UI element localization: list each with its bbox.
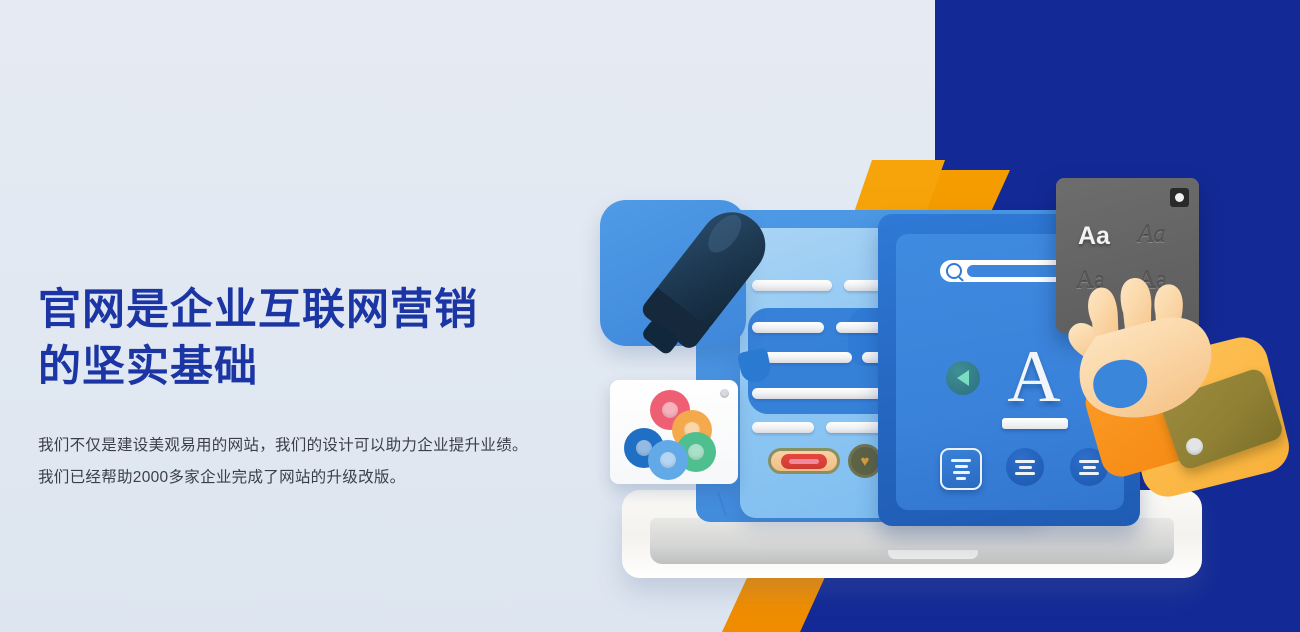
hero-copy: 官网是企业互联网营销 的坚实基础 我们不仅是建设美观易用的网站，我们的设计可以助… (38, 282, 558, 494)
palette-swatch-lightblue[interactable] (648, 440, 688, 480)
palette-screw (720, 389, 729, 398)
laptop-notch (888, 550, 978, 559)
hero-subcopy: 我们不仅是建设美观易用的网站，我们的设计可以助力企业提升业绩。 我们已经帮助20… (38, 430, 558, 494)
color-palette-card (610, 380, 738, 484)
font-swatch-bold[interactable]: Aa (1078, 224, 1110, 249)
toggle-switch[interactable] (768, 448, 840, 474)
prev-font-button[interactable] (946, 361, 980, 395)
search-icon (946, 263, 962, 279)
chevron-left-icon (957, 370, 969, 386)
subcopy-line-2: 我们已经帮助2000多家企业完成了网站的升级改版。 (38, 462, 558, 494)
toggle-knob (781, 454, 827, 469)
marker-pen-icon (604, 196, 794, 386)
align-left-button[interactable] (940, 448, 982, 490)
text-line (752, 422, 814, 433)
hero-banner: 官网是企业互联网营销 的坚实基础 我们不仅是建设美观易用的网站，我们的设计可以助… (0, 0, 1300, 632)
hero-illustration: ♥ A (600, 150, 1300, 620)
hand-icon (1030, 270, 1290, 520)
font-swatch-script[interactable]: Aa (1138, 222, 1166, 247)
record-icon[interactable] (1170, 188, 1189, 207)
align-left-icon (951, 459, 971, 462)
subcopy-line-1: 我们不仅是建设美观易用的网站，我们的设计可以助力企业提升业绩。 (38, 430, 558, 462)
favorite-heart-icon[interactable]: ♥ (848, 444, 882, 478)
page-title: 官网是企业互联网营销 的坚实基础 (38, 282, 558, 396)
